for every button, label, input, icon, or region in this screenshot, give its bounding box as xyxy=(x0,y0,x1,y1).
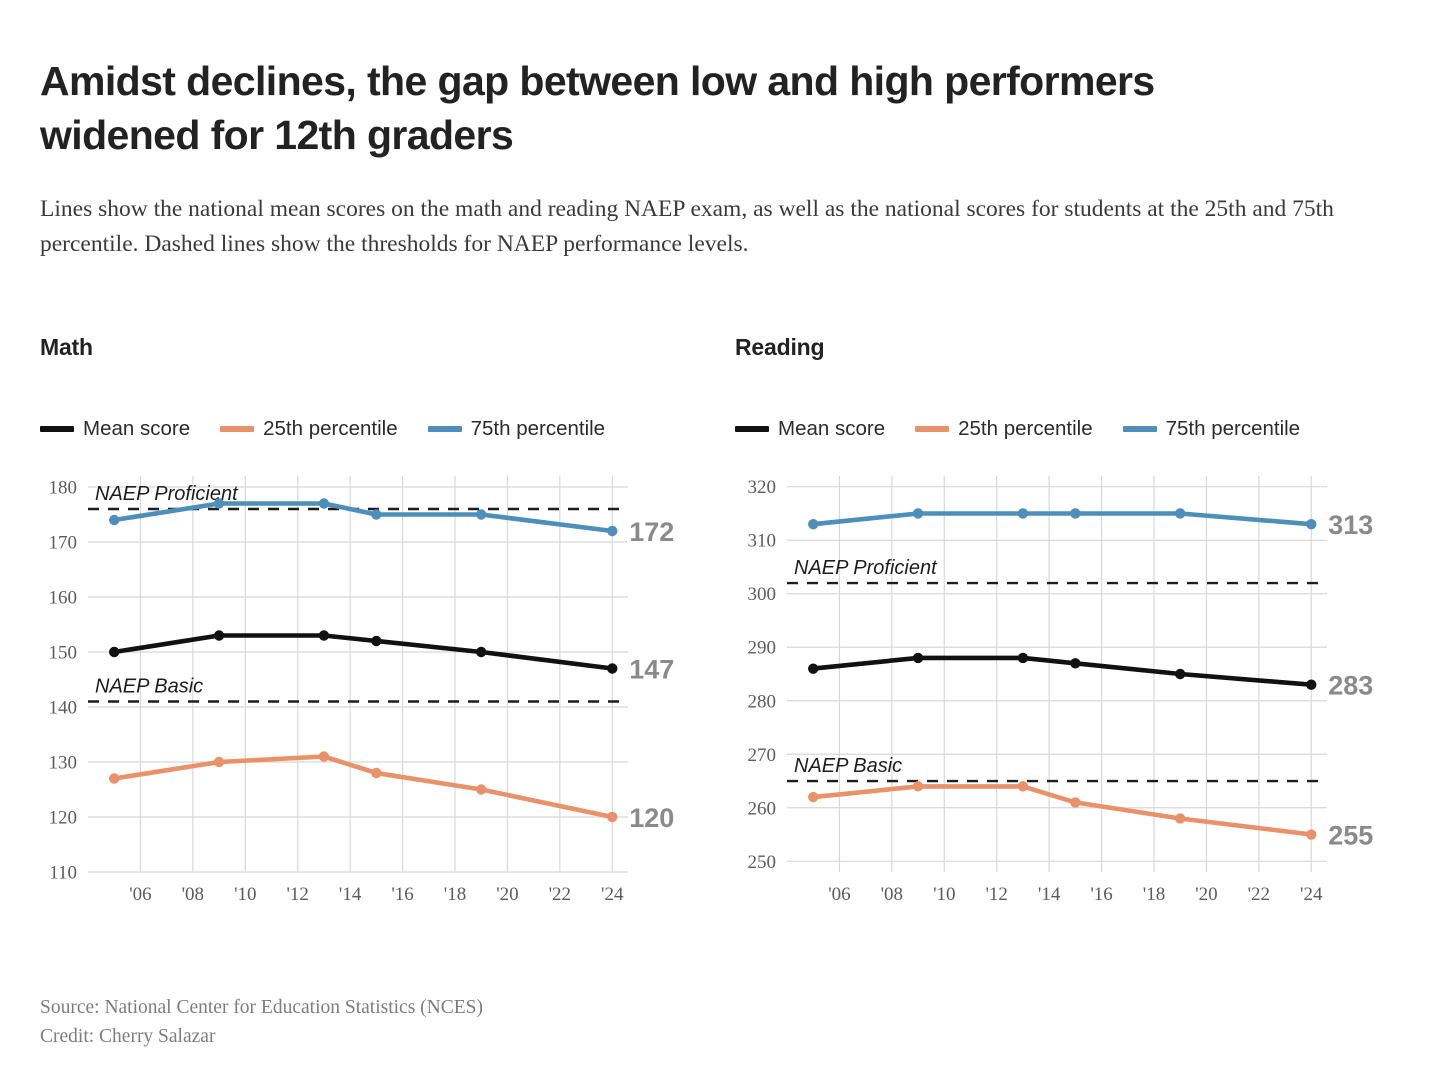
x-tick-label: '08 xyxy=(881,884,903,905)
data-point-p25[interactable] xyxy=(913,781,923,791)
x-tick-label: '20 xyxy=(1195,884,1217,905)
x-tick-label: '16 xyxy=(391,884,413,905)
legend-swatch-p25-icon xyxy=(915,426,949,432)
data-point-mean[interactable] xyxy=(913,653,923,663)
y-tick-label: 250 xyxy=(748,852,777,873)
data-point-mean[interactable] xyxy=(1306,680,1316,690)
data-point-p25[interactable] xyxy=(1175,813,1185,823)
data-point-mean[interactable] xyxy=(607,663,617,673)
end-value-label-p25: 255 xyxy=(1328,821,1373,851)
end-value-label-p25: 120 xyxy=(629,803,674,833)
series-line-mean[interactable] xyxy=(813,658,1311,685)
series-line-p75[interactable] xyxy=(813,514,1311,525)
x-tick-label: '24 xyxy=(1300,884,1323,905)
data-point-p75[interactable] xyxy=(913,508,923,518)
x-tick-label: '06 xyxy=(129,884,151,905)
x-tick-label: '08 xyxy=(182,884,204,905)
threshold-label: NAEP Basic xyxy=(794,755,902,777)
chart-panel-reading: Reading Mean score 25th percentile 75th … xyxy=(735,334,1425,934)
data-point-p25[interactable] xyxy=(371,768,381,778)
page-subtitle: Lines show the national mean scores on t… xyxy=(40,192,1405,263)
data-point-p25[interactable] xyxy=(476,784,486,794)
y-tick-label: 160 xyxy=(49,588,78,609)
y-tick-label: 110 xyxy=(49,863,77,884)
x-tick-label: '10 xyxy=(933,884,955,905)
y-tick-label: 130 xyxy=(49,753,78,774)
data-point-mean[interactable] xyxy=(476,647,486,657)
data-point-p75[interactable] xyxy=(1070,508,1080,518)
data-point-p25[interactable] xyxy=(109,773,119,783)
x-tick-label: '20 xyxy=(496,884,518,905)
series-line-p75[interactable] xyxy=(114,504,612,532)
legend-item-p75-reading[interactable]: 75th percentile xyxy=(1123,417,1300,441)
plot-area-math: 110120130140150160170180'06'08'10'12'14'… xyxy=(40,464,720,934)
y-tick-label: 140 xyxy=(49,698,78,719)
data-point-p25[interactable] xyxy=(319,751,329,761)
data-point-mean[interactable] xyxy=(371,636,381,646)
x-tick-label: '06 xyxy=(828,884,850,905)
data-point-p75[interactable] xyxy=(371,509,381,519)
line-chart-reading[interactable]: 250260270280290300310320'06'08'10'12'14'… xyxy=(735,464,1425,934)
legend-item-p25-math[interactable]: 25th percentile xyxy=(220,417,397,441)
data-point-mean[interactable] xyxy=(1018,653,1028,663)
y-tick-label: 180 xyxy=(49,478,78,499)
legend-item-p25-reading[interactable]: 25th percentile xyxy=(915,417,1092,441)
x-tick-label: '22 xyxy=(1248,884,1270,905)
x-tick-label: '24 xyxy=(601,884,624,905)
data-point-p75[interactable] xyxy=(109,515,119,525)
y-tick-label: 300 xyxy=(748,584,777,605)
infographic-page: Amidst declines, the gap between low and… xyxy=(0,0,1440,1076)
page-title: Amidst declines, the gap between low and… xyxy=(40,55,1310,162)
x-tick-label: '18 xyxy=(1143,884,1165,905)
legend-reading: Mean score 25th percentile 75th percenti… xyxy=(735,416,1425,442)
chart-title-math: Math xyxy=(40,334,720,364)
threshold-label: NAEP Proficient xyxy=(794,557,938,579)
y-tick-label: 280 xyxy=(748,691,777,712)
line-chart-math[interactable]: 110120130140150160170180'06'08'10'12'14'… xyxy=(40,464,720,934)
x-tick-label: '14 xyxy=(1038,884,1061,905)
footer: Source: National Center for Education St… xyxy=(40,993,483,1052)
data-point-p75[interactable] xyxy=(808,519,818,529)
data-point-p25[interactable] xyxy=(1306,829,1316,839)
series-line-p25[interactable] xyxy=(114,757,612,818)
data-point-p25[interactable] xyxy=(214,757,224,767)
data-point-p75[interactable] xyxy=(476,509,486,519)
y-tick-label: 310 xyxy=(748,531,777,552)
legend-math: Mean score 25th percentile 75th percenti… xyxy=(40,416,720,442)
legend-label-mean: Mean score xyxy=(83,417,190,441)
y-tick-label: 170 xyxy=(49,533,78,554)
legend-swatch-mean-icon xyxy=(40,426,74,432)
x-tick-label: '12 xyxy=(286,884,308,905)
legend-swatch-mean-icon xyxy=(735,426,769,432)
legend-label-p75: 75th percentile xyxy=(471,417,605,441)
y-tick-label: 290 xyxy=(748,638,777,659)
x-tick-label: '16 xyxy=(1090,884,1112,905)
y-tick-label: 120 xyxy=(49,808,78,829)
data-point-mean[interactable] xyxy=(319,630,329,640)
source-text: Source: National Center for Education St… xyxy=(40,993,483,1022)
x-tick-label: '22 xyxy=(549,884,571,905)
data-point-mean[interactable] xyxy=(1070,658,1080,668)
data-point-p25[interactable] xyxy=(808,792,818,802)
data-point-p75[interactable] xyxy=(1175,508,1185,518)
data-point-p75[interactable] xyxy=(1306,519,1316,529)
legend-swatch-p75-icon xyxy=(428,426,462,432)
plot-area-reading: 250260270280290300310320'06'08'10'12'14'… xyxy=(735,464,1425,934)
x-tick-label: '10 xyxy=(234,884,256,905)
data-point-mean[interactable] xyxy=(1175,669,1185,679)
data-point-mean[interactable] xyxy=(808,663,818,673)
end-value-label-mean: 147 xyxy=(629,655,674,685)
data-point-p25[interactable] xyxy=(1018,781,1028,791)
y-tick-label: 260 xyxy=(748,798,777,819)
y-tick-label: 270 xyxy=(748,745,777,766)
legend-label-p75: 75th percentile xyxy=(1166,417,1300,441)
data-point-p75[interactable] xyxy=(607,526,617,536)
data-point-p75[interactable] xyxy=(319,498,329,508)
chart-title-reading: Reading xyxy=(735,334,1425,364)
threshold-label: NAEP Basic xyxy=(95,676,203,698)
chart-panel-math: Math Mean score 25th percentile 75th per… xyxy=(40,334,720,934)
y-tick-label: 320 xyxy=(748,477,777,498)
data-point-p25[interactable] xyxy=(607,812,617,822)
data-point-p75[interactable] xyxy=(214,498,224,508)
legend-item-p75-math[interactable]: 75th percentile xyxy=(428,417,605,441)
x-tick-label: '12 xyxy=(985,884,1007,905)
x-tick-label: '18 xyxy=(444,884,466,905)
data-point-mean[interactable] xyxy=(214,630,224,640)
data-point-p25[interactable] xyxy=(1070,797,1080,807)
data-point-mean[interactable] xyxy=(109,647,119,657)
legend-swatch-p75-icon xyxy=(1123,426,1157,432)
end-value-label-p75: 313 xyxy=(1328,510,1373,540)
legend-item-mean-math[interactable]: Mean score xyxy=(40,417,190,441)
data-point-p75[interactable] xyxy=(1018,508,1028,518)
end-value-label-p75: 172 xyxy=(629,517,674,547)
legend-label-p25: 25th percentile xyxy=(263,417,397,441)
series-line-p25[interactable] xyxy=(813,786,1311,834)
legend-label-mean: Mean score xyxy=(778,417,885,441)
credit-text: Credit: Cherry Salazar xyxy=(40,1022,483,1051)
x-tick-label: '14 xyxy=(339,884,362,905)
legend-item-mean-reading[interactable]: Mean score xyxy=(735,417,885,441)
legend-label-p25: 25th percentile xyxy=(958,417,1092,441)
legend-swatch-p25-icon xyxy=(220,426,254,432)
end-value-label-mean: 283 xyxy=(1328,671,1373,701)
y-tick-label: 150 xyxy=(49,643,78,664)
